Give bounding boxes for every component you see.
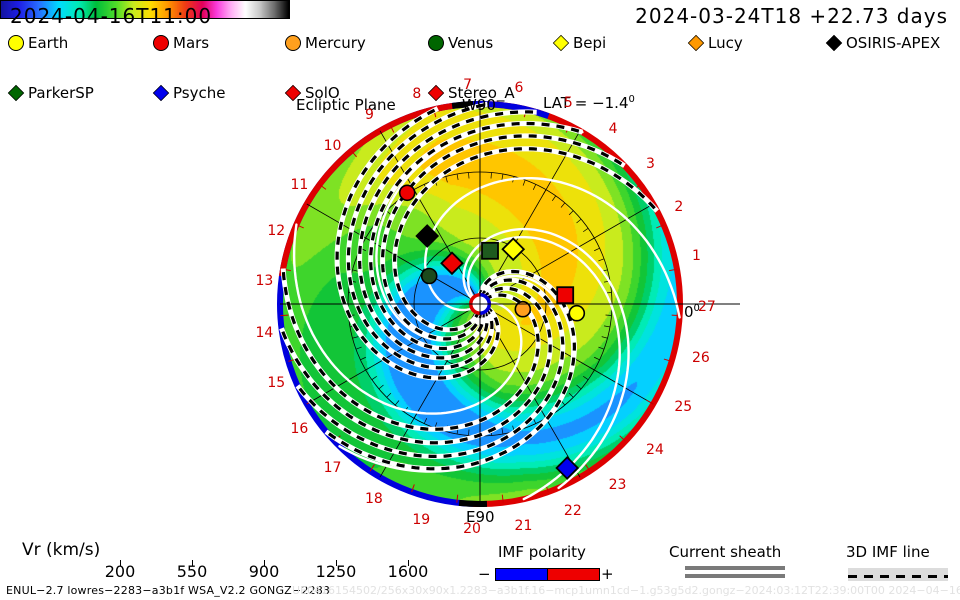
- legend-item-mars: Mars: [153, 34, 209, 52]
- latitude-label: LAT = −1.40: [543, 94, 635, 112]
- longitude-tick-2: 2: [674, 199, 683, 215]
- colorbar-tick-label: 200: [105, 562, 136, 581]
- run-datetime-right: 2024-03-24T18 +22.73 days: [635, 4, 948, 28]
- w90-label: W90: [462, 96, 496, 114]
- longitude-tick-15: 15: [267, 375, 285, 391]
- legend-label-psyche: Psyche: [173, 84, 225, 102]
- venus-marker-icon: [428, 35, 444, 51]
- plot-marker-solo: [441, 253, 462, 274]
- longitude-tick-23: 23: [609, 477, 627, 493]
- colorbar-tick-label: 1250: [316, 562, 357, 581]
- longitude-tick-14: 14: [256, 325, 274, 341]
- colorbar-tick-label: 900: [249, 562, 280, 581]
- longitude-tick-6: 6: [515, 80, 524, 96]
- plot-marker-mars: [400, 185, 415, 200]
- current-sheath-title: Current sheath: [669, 543, 781, 561]
- legend-row: ParkerSPPsycheSolOStereo_A: [8, 59, 952, 84]
- earth-marker-icon: [8, 35, 24, 51]
- legend-label-mars: Mars: [173, 34, 209, 52]
- degree-superscript: 0: [629, 94, 635, 105]
- longitude-tick-19: 19: [412, 512, 430, 528]
- imf-negative-swatch: [495, 568, 548, 581]
- footer-run-id: ENUL−2.7 lowres−2283−a3b1f WSA_V2.2 GONG…: [6, 584, 330, 597]
- longitude-tick-8: 8: [412, 86, 421, 102]
- legend-label-lucy: Lucy: [708, 34, 743, 52]
- legend-item-parkersp: ParkerSP: [8, 84, 94, 102]
- osiris-apex-marker-icon: [826, 35, 842, 51]
- longitude-tick-24: 24: [646, 442, 664, 458]
- lucy-marker-icon: [688, 35, 704, 51]
- longitude-tick-25: 25: [674, 399, 692, 415]
- longitude-tick-11: 11: [291, 177, 309, 193]
- longitude-tick-13: 13: [256, 273, 274, 289]
- stereo-a-marker-icon: [428, 85, 444, 101]
- longitude-tick-22: 22: [564, 503, 582, 519]
- longitude-tick-4: 4: [609, 121, 618, 137]
- longitude-tick-9: 9: [365, 107, 374, 123]
- legend-item-osiris-apex: OSIRIS-APEX: [826, 34, 940, 52]
- imf-3d-line-swatch: [848, 568, 948, 581]
- legend-label-mercury: Mercury: [305, 34, 366, 52]
- colorbar-tick-label: 1600: [388, 562, 429, 581]
- colorbar-title: Vr (km/s): [22, 540, 100, 560]
- imf-3d-line-title: 3D IMF line: [846, 543, 930, 561]
- legend-label-osiris-apex: OSIRIS-APEX: [846, 34, 940, 52]
- ecliptic-plane-label: Ecliptic Plane: [296, 96, 396, 114]
- legend-item-earth: Earth: [8, 34, 68, 52]
- zero-value: 0: [684, 303, 694, 321]
- plot-marker-venus: [482, 243, 498, 259]
- mercury-marker-icon: [285, 35, 301, 51]
- plot-marker-earth: [569, 306, 584, 321]
- legend-item-bepi: Bepi: [553, 34, 606, 52]
- imf-positive-swatch: [547, 568, 600, 581]
- longitude-tick-16: 16: [291, 421, 309, 437]
- legend-label-earth: Earth: [28, 34, 68, 52]
- parkersp-marker-icon: [8, 85, 24, 101]
- legend-item-lucy: Lucy: [688, 34, 743, 52]
- plot-marker-stereo-a: [557, 287, 573, 303]
- longitude-tick-18: 18: [365, 491, 383, 507]
- plot-marker-bepi: [503, 239, 524, 260]
- longitude-tick-10: 10: [324, 138, 342, 154]
- legend-label-venus: Venus: [448, 34, 493, 52]
- longitude-tick-17: 17: [324, 460, 342, 476]
- imf-plus-sign: +: [601, 565, 614, 583]
- imf-3d-dashed-line: [848, 570, 948, 583]
- longitude-tick-27: 27: [698, 299, 716, 315]
- longitude-tick-5: 5: [564, 95, 573, 111]
- footer-faint-metadata: UE0416154502/256x30x90x1.2283−a3b1f.16−m…: [292, 584, 960, 597]
- plot-overlay-svg: [276, 100, 684, 508]
- imf-minus-sign: −: [478, 565, 491, 583]
- ecliptic-plane-plot: [280, 104, 680, 504]
- colorbar-tick-label: 550: [177, 562, 208, 581]
- longitude-tick-26: 26: [692, 350, 710, 366]
- legend-label-bepi: Bepi: [573, 34, 606, 52]
- imf-polarity-title: IMF polarity: [498, 543, 586, 561]
- psyche-marker-icon: [153, 85, 169, 101]
- mars-marker-icon: [153, 35, 169, 51]
- current-sheath-swatch: [685, 566, 785, 582]
- longitude-tick-20: 20: [463, 521, 481, 537]
- run-datetime-left: 2024-04-16T11:00: [10, 4, 212, 28]
- legend-item-psyche: Psyche: [153, 84, 225, 102]
- legend-row: EarthMarsMercuryVenusBepiLucyOSIRIS-APEX: [8, 34, 952, 59]
- longitude-tick-12: 12: [267, 223, 285, 239]
- latitude-value: LAT = −1.4: [543, 94, 629, 112]
- legend-label-parkersp: ParkerSP: [28, 84, 94, 102]
- longitude-tick-21: 21: [515, 518, 533, 534]
- longitude-tick-3: 3: [646, 156, 655, 172]
- legend-item-venus: Venus: [428, 34, 493, 52]
- plot-marker-parkersp: [422, 269, 437, 284]
- legend-item-mercury: Mercury: [285, 34, 366, 52]
- longitude-tick-7: 7: [463, 77, 472, 93]
- bepi-marker-icon: [553, 35, 569, 51]
- longitude-tick-1: 1: [692, 248, 701, 264]
